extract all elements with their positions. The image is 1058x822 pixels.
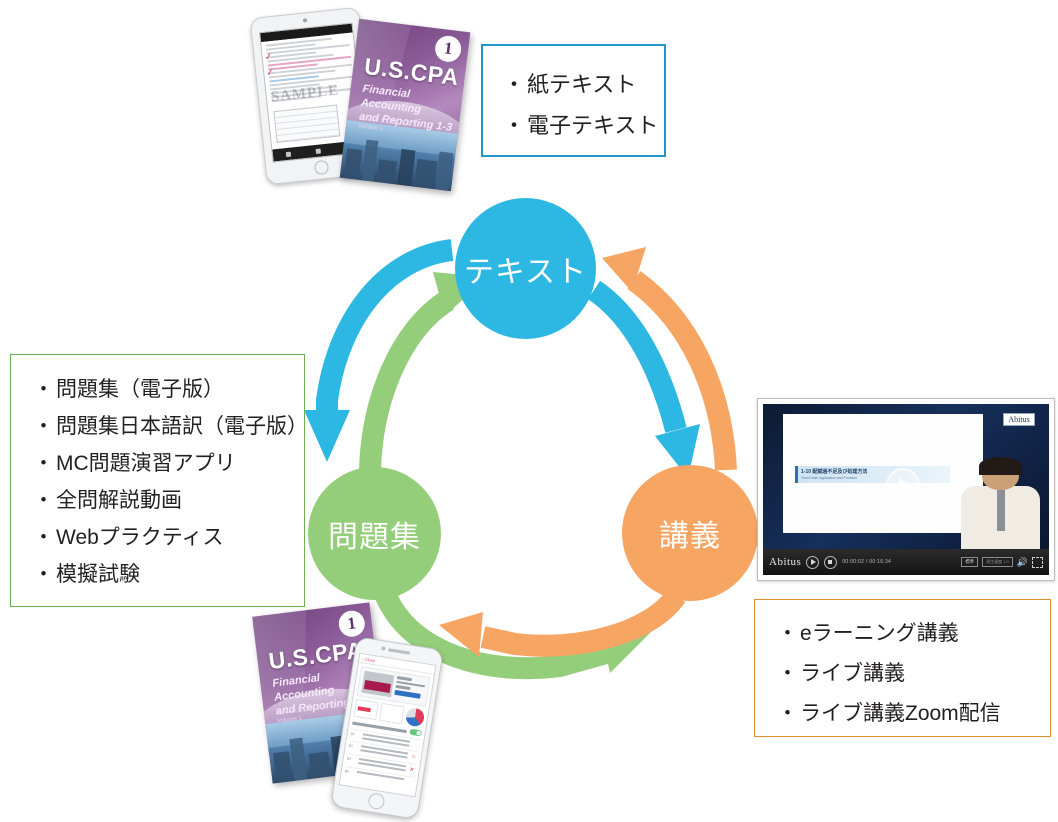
volume-number: 1 <box>434 34 463 63</box>
volume-number: 1 <box>337 609 366 638</box>
list-item-label: ライブ講義 <box>800 654 905 694</box>
tablet-sample-watermark: SAMPLE <box>270 82 340 106</box>
list-item: ・ eラーニング講義 <box>777 614 1050 654</box>
text-materials-box: ・ 紙テキスト ・ 電子テキスト <box>481 44 666 157</box>
lecture-materials-box: ・ eラーニング講義 ・ ライブ講義 ・ ライブ講義Zoom配信 <box>754 599 1051 737</box>
node-text[interactable]: テキスト <box>455 198 596 339</box>
fullscreen-icon[interactable] <box>1032 557 1043 568</box>
list-item: ・ MC問題演習アプリ <box>33 445 304 482</box>
bullet-icon: ・ <box>33 556 54 593</box>
list-item-label: eラーニング講義 <box>800 614 959 654</box>
node-lecture[interactable]: 講義 <box>622 465 758 601</box>
list-item: ・ 全問解説動画 <box>33 482 304 519</box>
list-item: ・ 問題集日本語訳（電子版） <box>33 408 304 445</box>
list-item: ・ 電子テキスト <box>503 105 664 146</box>
bullet-icon: ・ <box>33 408 54 445</box>
instructor-figure <box>957 459 1043 549</box>
node-workbook-label: 問題集 <box>328 512 421 556</box>
slide-title: 1-10 配賦過不足及び処理方法 <box>801 468 867 475</box>
list-item-label: 問題集（電子版） <box>56 371 224 408</box>
list-item-label: 全問解説動画 <box>56 482 182 519</box>
arrow-lecture-to-workbook <box>439 596 676 657</box>
list-item-label: 問題集日本語訳（電子版） <box>56 408 308 445</box>
bullet-icon: ・ <box>33 482 54 519</box>
play-overlay-icon[interactable] <box>886 468 920 502</box>
list-item: ・ 紙テキスト <box>503 64 664 105</box>
list-item-label: MC問題演習アプリ <box>56 445 236 482</box>
video-right-controls: 標準 再生速度 1.0 🔊 <box>961 557 1043 568</box>
speed-select[interactable]: 再生速度 1.0 <box>982 557 1013 567</box>
bullet-icon: ・ <box>33 371 54 408</box>
lecture-slide: 1-10 配賦過不足及び処理方法 Over/Under Application … <box>783 414 983 533</box>
bullet-icon: ・ <box>33 445 54 482</box>
textbook-cover-image: 1 U.S.CPA Financial Accounting and Repor… <box>340 19 471 191</box>
list-item: ・ ライブ講義 <box>777 654 1050 694</box>
bullet-icon: ・ <box>777 654 798 694</box>
volume-icon[interactable]: 🔊 <box>1017 558 1028 567</box>
list-item-label: ライブ講義Zoom配信 <box>800 694 1001 734</box>
slide-subtitle: Over/Under Application and Proration <box>801 476 857 480</box>
abitus-brand-label: Abitus <box>769 556 801 568</box>
list-item: ・ 問題集（電子版） <box>33 371 304 408</box>
stop-button-icon[interactable] <box>824 556 837 569</box>
video-stage: 1-10 配賦過不足及び処理方法 Over/Under Application … <box>763 404 1049 549</box>
play-button-icon[interactable] <box>806 556 819 569</box>
video-frame: 1-10 配賦過不足及び処理方法 Over/Under Application … <box>763 404 1049 575</box>
bullet-icon: ・ <box>33 519 54 556</box>
tablet-table <box>273 105 340 144</box>
bullet-icon: ・ <box>777 614 798 654</box>
bullet-icon: ・ <box>777 694 798 734</box>
list-item: ・ ライブ講義Zoom配信 <box>777 694 1050 734</box>
list-item-label: Webプラクティス <box>56 519 224 556</box>
elearning-video-player[interactable]: 1-10 配賦過不足及び処理方法 Over/Under Application … <box>757 398 1055 581</box>
quality-select[interactable]: 標準 <box>961 557 978 567</box>
node-workbook[interactable]: 問題集 <box>308 467 441 600</box>
workbook-materials-box: ・ 問題集（電子版） ・ 問題集日本語訳（電子版） ・ MC問題演習アプリ ・ … <box>10 354 305 607</box>
progress-pie-chart <box>405 707 426 728</box>
abitus-watermark: Abitus <box>1003 413 1034 426</box>
video-control-bar: Abitus 00:00:02 / 00:16:34 標準 再生速度 1.0 🔊 <box>763 549 1049 575</box>
node-lecture-label: 講義 <box>659 511 721 555</box>
diagram-canvas: テキスト 問題集 講義 ・ 紙テキスト ・ 電子テキスト ・ 問題集（電子版） … <box>0 0 1058 822</box>
list-item-label: 電子テキスト <box>527 105 658 146</box>
list-item: ・ Webプラクティス <box>33 519 304 556</box>
list-item: ・ 模擬試験 <box>33 556 304 593</box>
bullet-icon: ・ <box>503 105 525 146</box>
list-item-label: 紙テキスト <box>527 64 636 105</box>
bullet-icon: ・ <box>503 64 525 105</box>
node-text-label: テキスト <box>464 247 587 291</box>
phone-question-list: Q1 Q2○ Q3✕ Q4 <box>344 728 420 785</box>
video-timestamp: 00:00:02 / 00:16:34 <box>842 559 891 565</box>
list-item-label: 模擬試験 <box>56 556 140 593</box>
toggle-switch[interactable] <box>409 729 422 737</box>
